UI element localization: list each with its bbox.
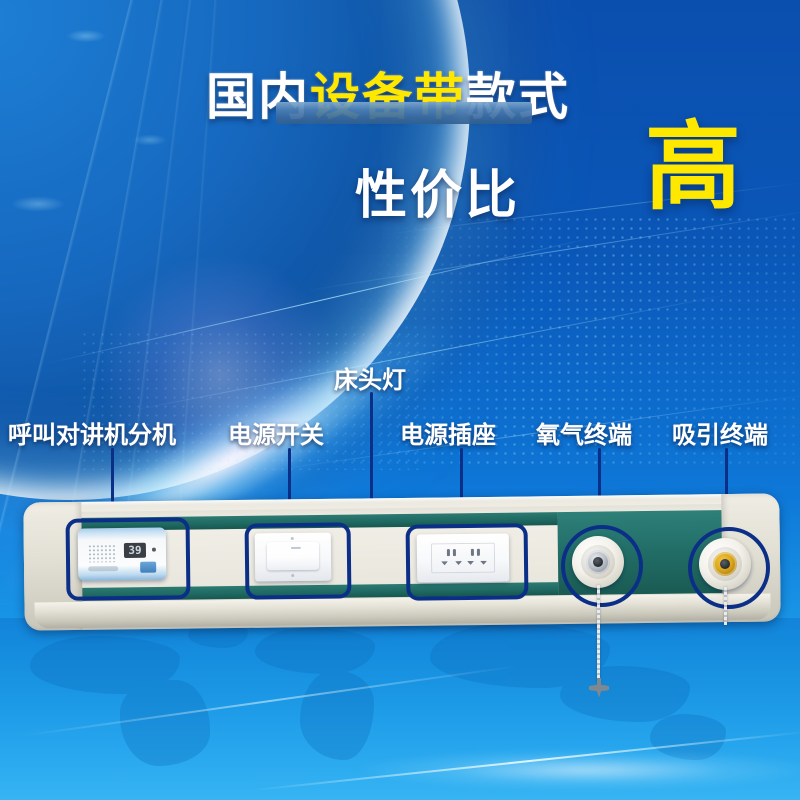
highlight-box-power-switch <box>245 522 352 599</box>
callout-label-power-switch: 电源开关 <box>228 415 324 450</box>
suction-pull-cord[interactable] <box>724 587 727 625</box>
headline-emphasis-char: 高 <box>645 119 741 215</box>
callout-label-suction-terminal: 吸引终端 <box>672 415 768 450</box>
headline-block: 国内设备带款式 性价比 高 <box>0 70 800 237</box>
headline-line-2-wrap: 性价比 高 <box>0 147 800 237</box>
panel-rail-blue-reflection <box>276 102 532 124</box>
highlight-box-oxygen <box>561 525 643 607</box>
bottom-glow <box>300 735 800 800</box>
callout-label-bed-head-lamp: 床头灯 <box>334 360 406 395</box>
callout-label-oxygen-terminal: 氧气终端 <box>536 415 632 450</box>
callout-label-power-socket: 电源插座 <box>400 415 496 450</box>
headline-line-2: 性价比 <box>355 153 520 228</box>
highlight-box-power-socket <box>406 523 529 600</box>
banner-stage: 国内设备带款式 性价比 高 呼叫对讲机分机 电源开关 床头灯 电源插座 氧气终端… <box>0 0 800 800</box>
highlight-box-suction <box>688 527 770 609</box>
oxygen-pull-cord[interactable] <box>597 585 600 683</box>
callout-label-nurse-call-intercom: 呼叫对讲机分机 <box>8 415 176 450</box>
highlight-box-intercom <box>66 517 191 601</box>
